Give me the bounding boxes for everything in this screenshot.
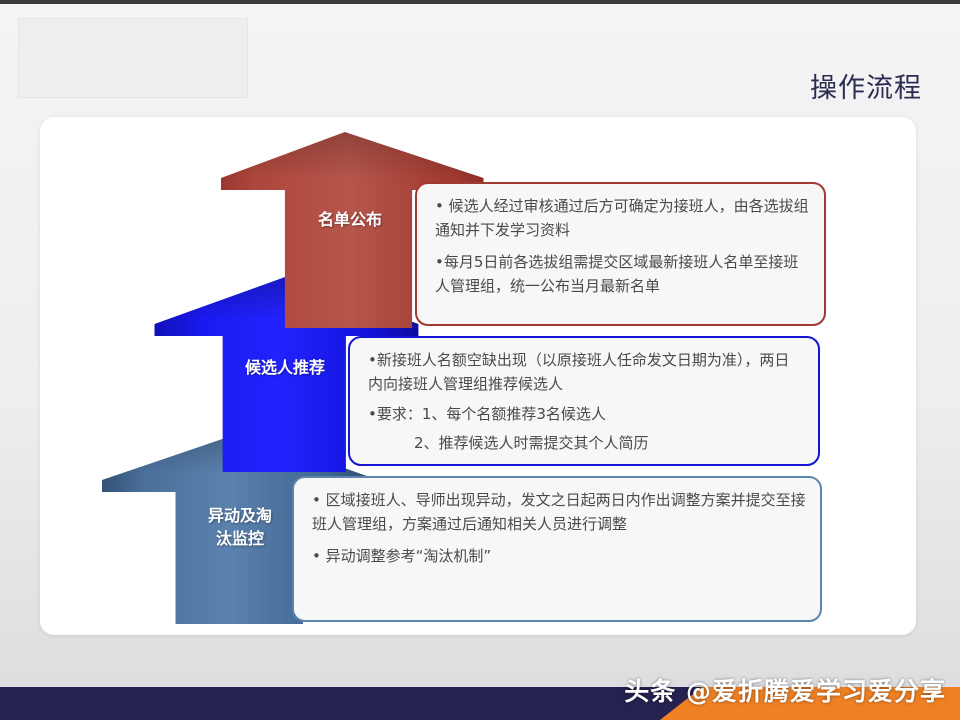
logo-placeholder <box>18 18 248 98</box>
stage-detail-box-list-release: • 候选人经过审核通过后方可确定为接班人，由各选拔组通知并下发学习资料 •每月5… <box>415 182 826 326</box>
slide-canvas: 操作流程 名单公布 候选人推荐 异动及淘 汰监控 • 候选人经过审核通过后方可确… <box>0 0 960 720</box>
bullet-list-list-release: • 候选人经过审核通过后方可确定为接班人，由各选拔组通知并下发学习资料 •每月5… <box>435 194 810 298</box>
list-item: • 异动调整参考“淘汰机制” <box>312 544 806 568</box>
list-item-indented: 2、推荐候选人时需提交其个人简历 <box>368 431 804 455</box>
stage-detail-box-change-monitor: • 区域接班人、导师出现异动，发文之日起两日内作出调整方案并提交至接班人管理组，… <box>292 476 822 622</box>
list-item: 2、推荐候选人时需提交其个人简历 <box>368 431 804 455</box>
stage-detail-box-candidate-recommend: •新接班人名额空缺出现（以原接班人任命发文日期为准），两日内向接班人管理组推荐候… <box>348 336 820 466</box>
top-border-highlight <box>0 4 960 6</box>
list-item: •每月5日前各选拔组需提交区域最新接班人名单至接班人管理组，统一公布当月最新名单 <box>435 250 810 299</box>
watermark-text: 头条 @爱折腾爱学习爱分享 <box>624 672 946 708</box>
list-item: • 区域接班人、导师出现异动，发文之日起两日内作出调整方案并提交至接班人管理组，… <box>312 488 806 537</box>
bullet-list-candidate-recommend: •新接班人名额空缺出现（以原接班人任命发文日期为准），两日内向接班人管理组推荐候… <box>368 348 804 455</box>
bullet-list-change-monitor: • 区域接班人、导师出现异动，发文之日起两日内作出调整方案并提交至接班人管理组，… <box>312 488 806 568</box>
page-title: 操作流程 <box>810 66 922 105</box>
list-item: •要求：1、每个名额推荐3名候选人 <box>368 402 804 426</box>
list-item: •新接班人名额空缺出现（以原接班人任命发文日期为准），两日内向接班人管理组推荐候… <box>368 348 804 397</box>
list-item: • 候选人经过审核通过后方可确定为接班人，由各选拔组通知并下发学习资料 <box>435 194 810 243</box>
